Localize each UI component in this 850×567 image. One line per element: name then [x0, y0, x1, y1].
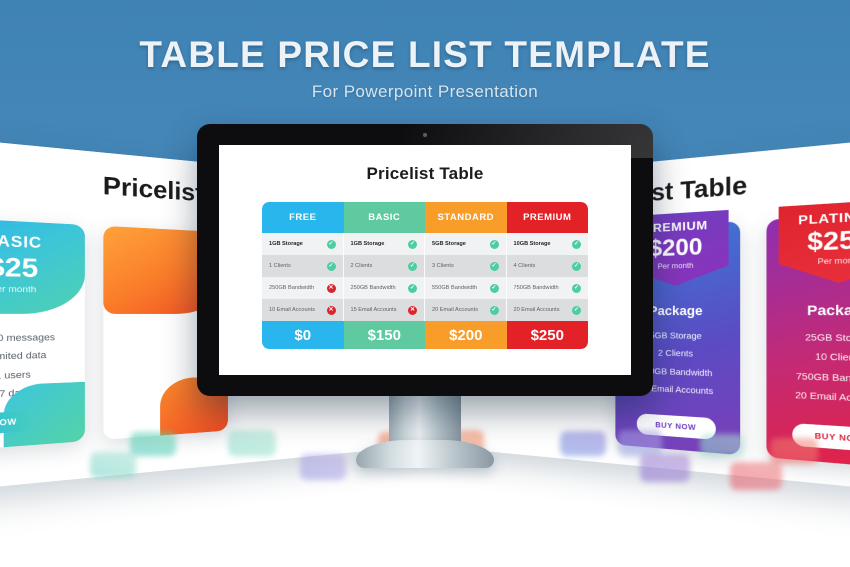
check-icon: ✓	[490, 240, 499, 249]
table-row: 10 Email Accounts✕15 Email Accounts✕20 E…	[262, 299, 588, 321]
page-title: TABLE PRICE LIST TEMPLATE	[0, 36, 850, 75]
card-plan-name: BASIC	[0, 229, 85, 253]
table-cell-label: 750GB Bandwidth	[514, 285, 573, 291]
table-cell: 20 Email Accounts✓	[507, 299, 589, 321]
table-cell: 20 Email Accounts✓	[425, 299, 507, 321]
table-body: 1GB Storage✓1GB Storage✓5GB Storage✓10GB…	[262, 233, 588, 321]
monitor: Pricelist Table FREEBASICSTANDARDPREMIUM…	[197, 124, 653, 396]
check-icon: ✓	[572, 240, 581, 249]
card-package-label: Package	[766, 303, 850, 319]
card-features: 25GB Storage 10 Clients 750GB Bandwidth …	[766, 327, 850, 411]
card-header: BASIC $25 Per month	[0, 217, 85, 314]
title-block: TABLE PRICE LIST TEMPLATE For Powerpoint…	[0, 36, 850, 102]
table-cell-label: 10GB Storage	[514, 241, 573, 247]
table-cell-label: 10 Email Accounts	[269, 307, 327, 313]
check-icon: ✓	[490, 284, 499, 293]
webcam-icon	[423, 133, 427, 137]
table-header-premium[interactable]: PREMIUM	[507, 202, 589, 233]
table-cell: 2 Clients✓	[344, 255, 426, 277]
slide-left-cards: BASIC $25 Per month 10,000 messages unli…	[0, 217, 228, 452]
pricing-card-basic[interactable]: BASIC $25 Per month 10,000 messages unli…	[0, 217, 85, 452]
table-cell-label: 550GB Bandwidth	[432, 285, 490, 291]
cross-icon: ✕	[327, 306, 336, 315]
monitor-stand-base	[356, 440, 494, 468]
table-price-basic: $150	[344, 321, 426, 349]
check-icon: ✓	[327, 262, 336, 271]
table-row: 1 Clients✓2 Clients✓3 Clients✓4 Clients✓	[262, 255, 588, 277]
table-header-standard[interactable]: STANDARD	[425, 202, 507, 233]
table-cell-label: 15 Email Accounts	[351, 307, 409, 313]
table-cell-label: 1GB Storage	[269, 241, 327, 247]
table-cell-label: 4 Clients	[514, 263, 573, 269]
pricing-table: FREEBASICSTANDARDPREMIUM 1GB Storage✓1GB…	[262, 202, 588, 349]
feature-item: 20 Email Accounts	[766, 385, 850, 412]
table-cell-label: 20 Email Accounts	[432, 307, 490, 313]
table-cell-label: 2 Clients	[351, 263, 409, 269]
card-plan-name: PLATINUM	[779, 207, 850, 229]
table-cell-label: 1GB Storage	[351, 241, 409, 247]
table-cell: 5GB Storage✓	[425, 233, 507, 255]
check-icon: ✓	[408, 262, 417, 271]
table-cell: 250GB Bandwidth✓	[344, 277, 426, 299]
check-icon: ✓	[490, 262, 499, 271]
check-icon: ✓	[572, 284, 581, 293]
table-price-premium: $250	[507, 321, 589, 349]
table-footer-row: $0$150$200$250	[262, 321, 588, 349]
buy-now-button[interactable]: BUY NOW	[792, 423, 850, 453]
cross-icon: ✕	[408, 306, 417, 315]
check-icon: ✓	[327, 240, 336, 249]
table-row: 250GB Bandwidth✕250GB Bandwidth✓550GB Ba…	[262, 277, 588, 299]
poster-stage: TABLE PRICE LIST TEMPLATE For Powerpoint…	[0, 0, 850, 567]
table-cell: 3 Clients✓	[425, 255, 507, 277]
table-cell-label: 3 Clients	[432, 263, 490, 269]
table-price-free: $0	[262, 321, 344, 349]
check-icon: ✓	[408, 284, 417, 293]
table-cell-label: 250GB Bandwidth	[269, 285, 327, 291]
table-cell: 1 Clients✓	[262, 255, 344, 277]
check-icon: ✓	[408, 240, 417, 249]
card-period: Per month	[0, 284, 85, 295]
table-cell: 15 Email Accounts✕	[344, 299, 426, 321]
table-header-row: FREEBASICSTANDARDPREMIUM	[262, 202, 588, 233]
check-icon: ✓	[490, 306, 499, 315]
pricelist-title: Pricelist Table	[219, 164, 631, 184]
table-cell-label: 1 Clients	[269, 263, 327, 269]
check-icon: ✓	[572, 262, 581, 271]
monitor-screen: Pricelist Table FREEBASICSTANDARDPREMIUM…	[219, 145, 631, 375]
table-cell: 4 Clients✓	[507, 255, 589, 277]
table-cell: 1GB Storage✓	[344, 233, 426, 255]
table-header-free[interactable]: FREE	[262, 202, 344, 233]
card-ribbon: PLATINUM $250 Per month	[779, 199, 850, 284]
table-cell: 750GB Bandwidth✓	[507, 277, 589, 299]
card-price: $250	[779, 224, 850, 259]
pricing-card-platinum[interactable]: PLATINUM $250 Per month Package 25GB Sto…	[766, 211, 850, 470]
table-cell-label: 20 Email Accounts	[514, 307, 573, 313]
table-cell-label: 250GB Bandwidth	[351, 285, 409, 291]
table-cell: 10 Email Accounts✕	[262, 299, 344, 321]
table-header-basic[interactable]: BASIC	[344, 202, 426, 233]
table-cell-label: 5GB Storage	[432, 241, 490, 247]
table-cell: 10GB Storage✓	[507, 233, 589, 255]
table-price-standard: $200	[425, 321, 507, 349]
buy-now-button[interactable]: BUY NOW	[637, 413, 716, 440]
table-cell: 250GB Bandwidth✕	[262, 277, 344, 299]
table-cell: 1GB Storage✓	[262, 233, 344, 255]
page-subtitle: For Powerpoint Presentation	[0, 82, 850, 102]
check-icon: ✓	[572, 306, 581, 315]
table-cell: 550GB Bandwidth✓	[425, 277, 507, 299]
card-price: $25	[0, 251, 85, 286]
cross-icon: ✕	[327, 284, 336, 293]
table-row: 1GB Storage✓1GB Storage✓5GB Storage✓10GB…	[262, 233, 588, 255]
